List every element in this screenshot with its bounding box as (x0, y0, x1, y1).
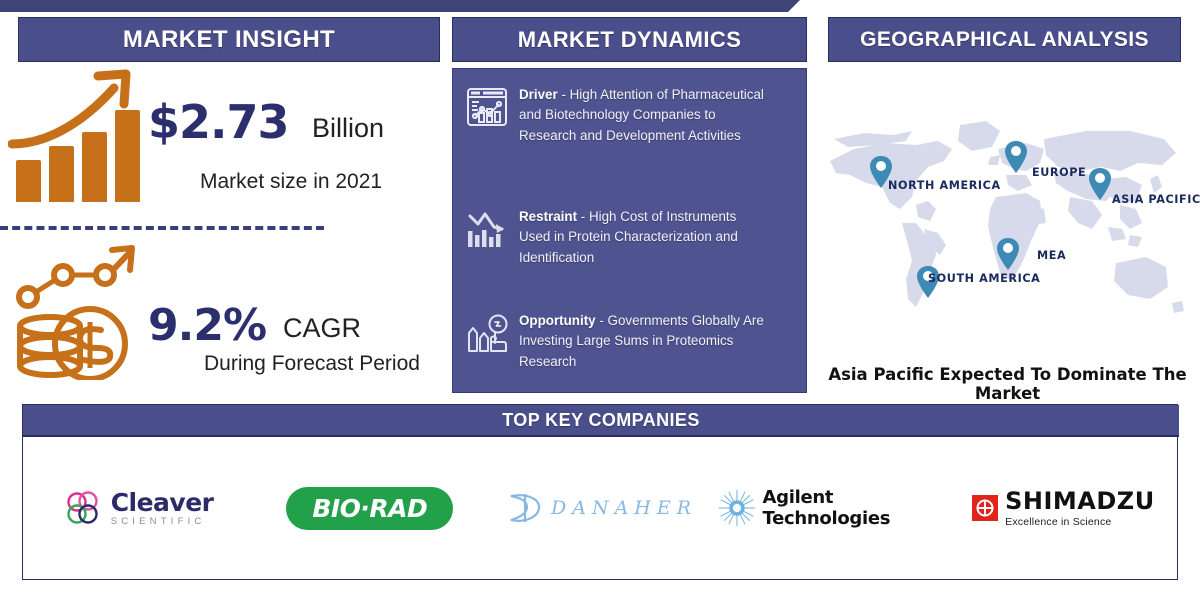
coin-stack-growth-icon (8, 240, 138, 380)
dynamics-text-restraint: Restraint - High Cost of Instruments Use… (519, 207, 769, 268)
company-cell-cleaver[interactable]: Cleaver SCIENTIFIC (23, 437, 254, 579)
market-size-unit: Billion (312, 113, 384, 144)
company-cell-agilent[interactable]: Agilent Technologies (717, 437, 948, 579)
shimadzu-logo: SHIMADZU Excellence in Science (972, 489, 1155, 528)
cleaver-scientific-logo: Cleaver SCIENTIFIC (64, 488, 214, 528)
dynamics-label-restraint: Restraint (519, 209, 577, 224)
danaher-mark-icon (505, 491, 545, 525)
market-dynamics-header: MARKET DYNAMICS (452, 17, 807, 62)
dynamics-item-restraint: Restraint - High Cost of Instruments Use… (465, 207, 769, 268)
market-size-caption: Market size in 2021 (200, 170, 382, 194)
dynamics-sep-driver: - (558, 87, 570, 102)
company-name-danaher: DANAHER (551, 497, 697, 519)
declining-bar-chart-icon (465, 207, 509, 251)
market-size-value: $2.73 (148, 95, 289, 149)
cagr-label: CAGR (283, 313, 361, 344)
top-key-companies-panel: TOP KEY COMPANIES Cleaver SCIE (22, 404, 1178, 580)
company-name-agilent: Agilent Technologies (763, 487, 948, 529)
dynamics-label-driver: Driver (519, 87, 558, 102)
agilent-mark-icon (717, 486, 757, 530)
map-label-south-america: SOUTH AMERICA (928, 272, 1040, 285)
company-name-shimadzu: SHIMADZU (1005, 489, 1155, 513)
dynamics-sep-opportunity: - (596, 313, 608, 328)
idea-growth-hand-icon (465, 311, 509, 355)
bio-rad-logo: BIO·RAD (286, 487, 453, 530)
infographic-root: MARKET INSIGHT $2.73 Billion Market size… (0, 0, 1200, 600)
market-insight-header: MARKET INSIGHT (18, 17, 440, 62)
company-sub-cleaver: SCIENTIFIC (111, 517, 214, 527)
danaher-logo: DANAHER (505, 491, 697, 525)
company-logo-row: Cleaver SCIENTIFIC BIO·RAD DANAHER (23, 437, 1179, 579)
dashboard-chart-icon (465, 85, 509, 129)
map-pin-europe[interactable] (1004, 140, 1028, 179)
map-pin-mea[interactable] (996, 237, 1020, 276)
dynamics-item-driver: Driver - High Attention of Pharmaceutica… (465, 85, 769, 146)
dynamics-sep-restraint: - (577, 209, 589, 224)
company-cell-shimadzu[interactable]: SHIMADZU Excellence in Science (948, 437, 1179, 579)
top-decorative-band (0, 0, 800, 12)
company-cell-danaher[interactable]: DANAHER (485, 437, 716, 579)
growth-bar-chart-icon (8, 62, 148, 202)
map-label-asia-pacific: ASIA PACIFIC (1112, 193, 1200, 206)
geographical-analysis-title: GEOGRAPHICAL ANALYSIS (860, 28, 1149, 52)
top-key-companies-title: TOP KEY COMPANIES (502, 410, 700, 431)
dynamics-text-opportunity: Opportunity - Governments Globally Are I… (519, 311, 769, 372)
section-divider (0, 226, 324, 230)
geographical-analysis-caption: Asia Pacific Expected To Dominate The Ma… (820, 365, 1195, 403)
market-dynamics-panel: Driver - High Attention of Pharmaceutica… (452, 68, 807, 393)
geographical-analysis-header: GEOGRAPHICAL ANALYSIS (828, 17, 1181, 62)
map-pin-icon (1088, 167, 1112, 201)
dynamics-label-opportunity: Opportunity (519, 313, 596, 328)
company-sub-shimadzu: Excellence in Science (1005, 517, 1155, 528)
map-label-europe: EUROPE (1032, 166, 1086, 179)
company-cell-biorad[interactable]: BIO·RAD (254, 437, 485, 579)
map-pin-icon (996, 237, 1020, 271)
cleaver-mark-icon (64, 488, 104, 528)
cagr-caption: During Forecast Period (204, 352, 420, 376)
company-name-biorad: BIO·RAD (312, 494, 427, 523)
agilent-technologies-logo: Agilent Technologies (717, 486, 948, 530)
market-insight-title: MARKET INSIGHT (123, 26, 335, 54)
map-pin-icon (1004, 140, 1028, 174)
company-name-cleaver: Cleaver (111, 490, 214, 515)
shimadzu-mark-icon (972, 495, 998, 521)
map-label-mea: MEA (1037, 249, 1066, 262)
dynamics-text-driver: Driver - High Attention of Pharmaceutica… (519, 85, 769, 146)
top-key-companies-header: TOP KEY COMPANIES (23, 405, 1179, 437)
dynamics-item-opportunity: Opportunity - Governments Globally Are I… (465, 311, 769, 372)
map-label-north-america: NORTH AMERICA (888, 179, 1001, 192)
cagr-value: 9.2% (148, 300, 266, 351)
market-dynamics-title: MARKET DYNAMICS (518, 27, 742, 53)
map-pin-asia-pacific[interactable] (1088, 167, 1112, 206)
